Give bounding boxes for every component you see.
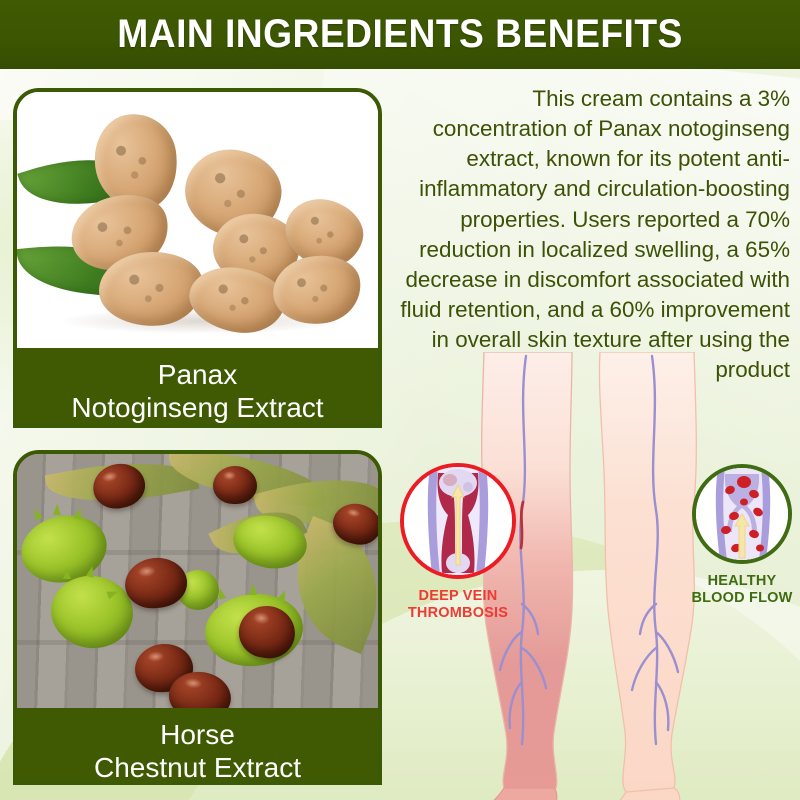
husk-spike <box>249 584 257 595</box>
husk-spike <box>53 504 61 515</box>
header-bar: MAIN INGREDIENTS BENEFITS <box>0 0 800 69</box>
caption-line1: HEALTHY <box>688 573 796 590</box>
chestnut-nut-center <box>123 555 190 611</box>
horse-chestnut-photo <box>17 454 378 716</box>
chestnut-nut-top-mid <box>213 466 257 504</box>
card-label-line1: Panax <box>17 358 378 391</box>
caption-line2: BLOOD FLOW <box>688 590 796 607</box>
husk-spike <box>31 507 42 520</box>
healthy-blood-flow-vessel-icon <box>692 464 792 564</box>
card-label-line1: Horse <box>17 718 378 751</box>
card-label-line2: Chestnut Extract <box>17 751 378 784</box>
caption-line1: DEEP VEIN <box>396 588 520 605</box>
husk-spike <box>216 587 226 599</box>
husk-spike <box>277 589 289 602</box>
right-foot <box>612 788 680 800</box>
callout-caption-healthy: HEALTHY BLOOD FLOW <box>688 573 796 608</box>
card-label-panax: Panax Notoginseng Extract <box>17 348 378 424</box>
infographic-poster: MAIN INGREDIENTS BENEFITS Panax <box>0 0 800 800</box>
caption-line2: THROMBOSIS <box>396 605 520 622</box>
ginseng-scene <box>17 92 378 356</box>
left-leg-clot-marker <box>521 502 523 548</box>
right-leg-normal <box>599 352 696 798</box>
callout-healthy-blood-flow: HEALTHY BLOOD FLOW <box>688 464 796 608</box>
panax-notoginseng-root-photo <box>17 92 378 356</box>
ingredient-card-horse-chestnut: Horse Chestnut Extract <box>13 450 382 785</box>
deep-vein-thrombosis-vessel-icon <box>400 463 516 579</box>
card-label-horse-chestnut: Horse Chestnut Extract <box>17 708 378 781</box>
husk-spike <box>63 568 71 579</box>
page-title: MAIN INGREDIENTS BENEFITS <box>117 12 683 57</box>
callout-deep-vein-thrombosis: DEEP VEIN THROMBOSIS <box>396 463 520 623</box>
callout-caption-dvt: DEEP VEIN THROMBOSIS <box>396 588 520 623</box>
benefits-paragraph: This cream contains a 3% concentration o… <box>394 84 790 385</box>
chestnut-scene <box>17 454 378 716</box>
card-label-line2: Notoginseng Extract <box>17 391 378 424</box>
left-foot <box>486 788 557 800</box>
ingredient-card-panax: Panax Notoginseng Extract <box>13 88 382 428</box>
